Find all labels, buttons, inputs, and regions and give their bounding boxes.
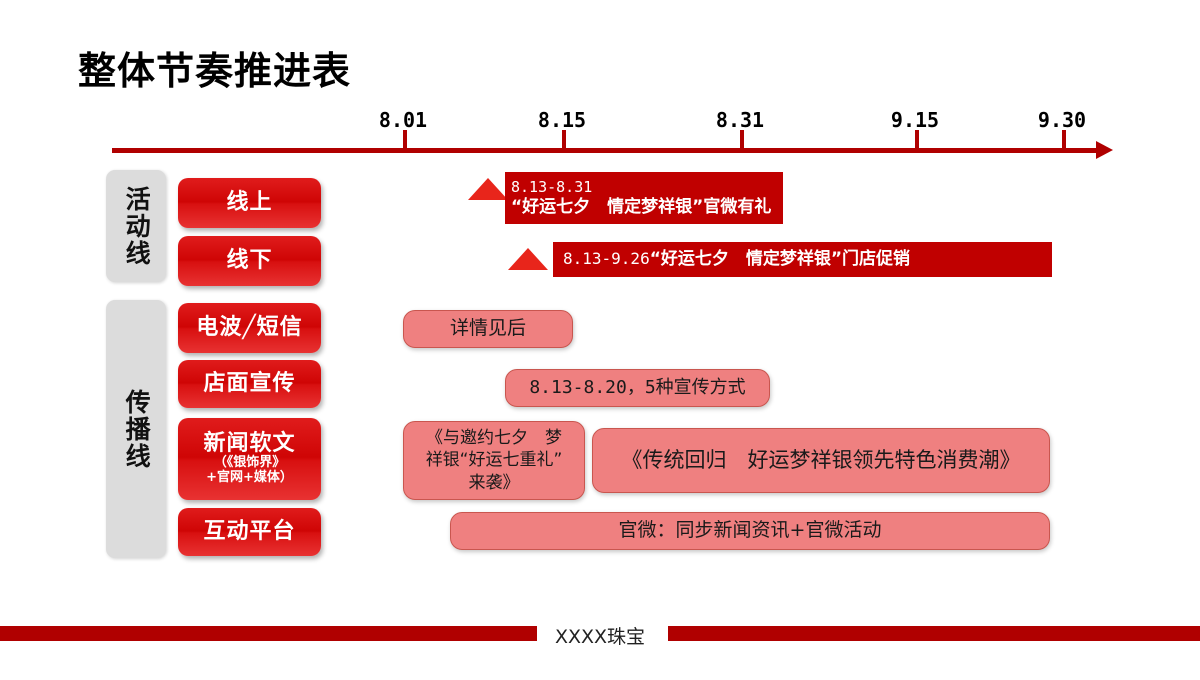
detail-later-box-text: 详情见后: [450, 317, 526, 341]
category-button-online[interactable]: 线上: [178, 178, 321, 228]
category-button-store-promotion-label: 店面宣传: [203, 372, 295, 396]
category-button-store-promotion[interactable]: 店面宣传: [178, 360, 321, 408]
interactive-platform-box-text: 官微：同步新闻资讯+官微活动: [619, 519, 882, 543]
timeline-tick-label-2: 8.15: [538, 108, 586, 132]
timeline-tick-label-5: 9.30: [1038, 108, 1086, 132]
timeline-tick-label-3: 8.31: [716, 108, 764, 132]
online-activity-bar-date: 8.13-8.31: [511, 178, 777, 197]
category-button-online-label: 线上: [226, 191, 272, 215]
news-article-left-line3: 来袭》: [426, 472, 563, 494]
category-button-interactive-platform-label: 互动平台: [203, 520, 295, 544]
group-label-activity-line: 活动线: [106, 170, 166, 282]
category-button-news-article-sub-line1: （《银饰界》: [214, 456, 286, 471]
group-label-communication-line: 传播线: [106, 300, 166, 558]
group-label-activity-line-text: 活动线: [123, 186, 149, 267]
timeline-arrow-head: [1096, 141, 1113, 159]
page-title: 整体节奏推进表: [78, 40, 351, 95]
news-article-right-box[interactable]: 《传统回归 好运梦祥银领先特色消费潮》: [592, 428, 1050, 493]
offline-activity-bar[interactable]: 8.13-9.26“好运七夕 情定梦祥银”门店促销: [553, 242, 1052, 277]
timeline-axis-line: [112, 148, 1102, 153]
timeline-tick-4: [915, 130, 919, 150]
timeline-tick-1: [403, 130, 407, 150]
footer-brand-text: XXXX珠宝: [0, 622, 1200, 649]
news-article-left-box[interactable]: 《与邀约七夕 梦 祥银“好运七重礼” 来袭》: [403, 421, 585, 500]
category-button-interactive-platform[interactable]: 互动平台: [178, 508, 321, 556]
timeline-tick-2: [562, 130, 566, 150]
news-article-left-line2: 祥银“好运七重礼”: [426, 449, 563, 471]
timeline-tick-3: [740, 130, 744, 150]
store-promotion-box-text: 8.13-8.20，5种宣传方式: [529, 377, 745, 400]
news-article-left-line1: 《与邀约七夕 梦: [426, 427, 563, 449]
offline-activity-bar-text: 8.13-9.26“好运七夕 情定梦祥银”门店促销: [563, 249, 1042, 270]
news-article-right-box-text: 《传统回归 好运梦祥银领先特色消费潮》: [622, 447, 1021, 473]
online-activity-bar-text: “好运七夕 情定梦祥银”官微有礼: [511, 197, 777, 218]
category-button-offline-label: 线下: [226, 249, 272, 273]
category-button-news-article-label: 新闻软文: [203, 432, 295, 456]
offline-bar-marker-triangle: [508, 248, 548, 270]
store-promotion-box[interactable]: 8.13-8.20，5种宣传方式: [505, 369, 770, 407]
online-activity-bar[interactable]: 8.13-8.31 “好运七夕 情定梦祥银”官微有礼: [505, 172, 783, 224]
news-article-left-box-text: 《与邀约七夕 梦 祥银“好运七重礼” 来袭》: [426, 427, 563, 493]
timeline-tick-5: [1062, 130, 1066, 150]
category-button-radio-sms-label: 电波╱短信: [196, 316, 302, 340]
category-button-news-article-sub-line2: +官网+媒体）: [206, 471, 293, 486]
offline-activity-bar-date: 8.13-9.26: [563, 249, 650, 268]
category-button-radio-sms[interactable]: 电波╱短信: [178, 303, 321, 353]
group-label-communication-line-text: 传播线: [123, 389, 149, 470]
offline-activity-bar-title: “好运七夕 情定梦祥银”门店促销: [650, 249, 910, 269]
detail-later-box[interactable]: 详情见后: [403, 310, 573, 348]
timeline-tick-label-1: 8.01: [379, 108, 427, 132]
timeline-tick-label-4: 9.15: [891, 108, 939, 132]
online-bar-marker-triangle: [468, 178, 508, 200]
interactive-platform-box[interactable]: 官微：同步新闻资讯+官微活动: [450, 512, 1050, 550]
category-button-offline[interactable]: 线下: [178, 236, 321, 286]
category-button-news-article[interactable]: 新闻软文 （《银饰界》 +官网+媒体）: [178, 418, 321, 500]
